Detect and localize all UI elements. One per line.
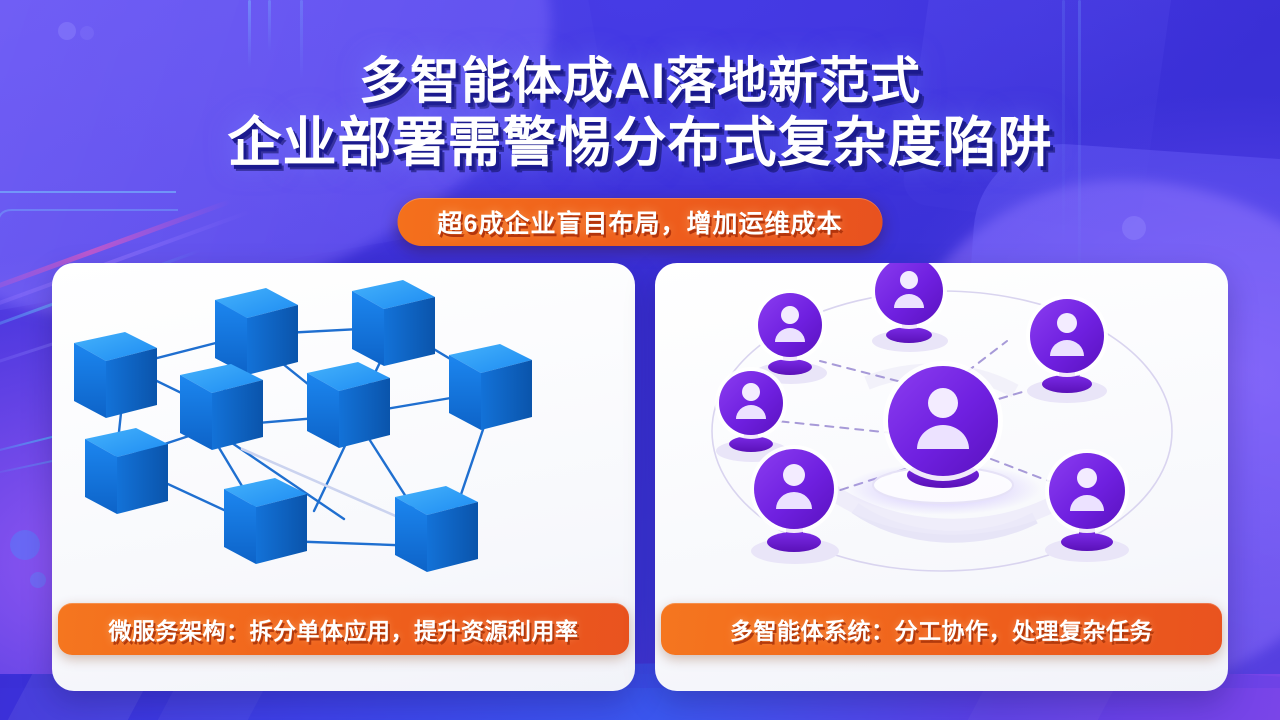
card-microservices[interactable]: 微服务架构：拆分单体应用，提升资源利用率: [52, 263, 635, 691]
microservices-network-diagram: [52, 263, 635, 601]
background-dot: [30, 572, 46, 588]
multi-agent-network-diagram: [655, 263, 1228, 601]
background-dot: [10, 530, 40, 560]
card-multi-agent[interactable]: 多智能体系统：分工协作，处理复杂任务: [655, 263, 1228, 691]
cube-node: [395, 486, 478, 572]
cube-node: [215, 288, 298, 375]
cube-node: [85, 428, 168, 514]
multi-agent-caption: 多智能体系统：分工协作，处理复杂任务: [661, 603, 1222, 655]
agent-node: [754, 289, 827, 384]
background-vline: [268, 0, 271, 52]
cube-node: [224, 478, 307, 564]
agent-node: [1045, 449, 1129, 562]
headline-line-1: 多智能体成AI落地新范式: [0, 56, 1280, 106]
cube-node: [74, 332, 157, 418]
status-badge-label: 超6成企业盲目布局，增加运维成本: [438, 204, 843, 240]
agent-node: [715, 367, 788, 462]
cube-node: [180, 364, 263, 450]
background-dot: [1122, 216, 1146, 240]
agent-node: [871, 263, 948, 352]
headline-line-2: 企业部署需警惕分布式复杂度陷阱: [0, 116, 1280, 170]
status-badge: 超6成企业盲目布局，增加运维成本: [398, 198, 883, 246]
page-title: 多智能体成AI落地新范式 企业部署需警惕分布式复杂度陷阱: [0, 56, 1280, 170]
agent-node: [750, 445, 839, 564]
multi-agent-caption-label: 多智能体系统：分工协作，处理复杂任务: [730, 612, 1153, 646]
agent-node: [1026, 295, 1108, 403]
cube-node: [449, 344, 532, 430]
background-dot: [58, 22, 76, 40]
cube-node: [307, 362, 390, 448]
cube-node: [352, 280, 435, 366]
background-dot: [80, 26, 94, 40]
microservices-caption-label: 微服务架构：拆分单体应用，提升资源利用率: [109, 612, 579, 646]
microservices-caption: 微服务架构：拆分单体应用，提升资源利用率: [58, 603, 629, 655]
